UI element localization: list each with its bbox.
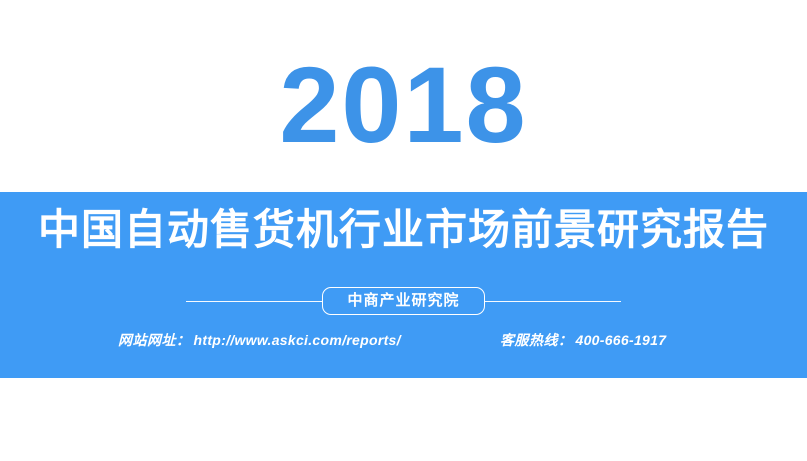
hotline-number: 400-666-1917 <box>576 332 667 348</box>
cover-year: 2018 <box>279 51 527 159</box>
report-title: 中国自动售货机行业市场前景研究报告 <box>0 208 807 252</box>
website-url[interactable]: http://www.askci.com/reports/ <box>194 332 401 348</box>
website-info: 网站网址： http://www.askci.com/reports/ <box>118 330 401 350</box>
report-cover: 2018 中国自动售货机行业市场前景研究报告 中商产业研究院 网站网址： htt… <box>0 0 807 461</box>
badge-divider-row: 中商产业研究院 <box>0 284 807 318</box>
year-area: 2018 <box>0 0 807 192</box>
website-label: 网站网址： <box>118 330 191 350</box>
title-band: 中国自动售货机行业市场前景研究报告 中商产业研究院 网站网址： http://w… <box>0 192 807 378</box>
contact-row: 网站网址： http://www.askci.com/reports/ 客服热线… <box>0 330 807 356</box>
divider-line-right <box>485 301 621 302</box>
hotline-label: 客服热线： <box>500 330 573 350</box>
publisher-badge: 中商产业研究院 <box>322 287 484 316</box>
divider-line-left <box>186 301 322 302</box>
footer-area <box>0 378 807 461</box>
hotline-info: 客服热线： 400-666-1917 <box>500 330 666 350</box>
